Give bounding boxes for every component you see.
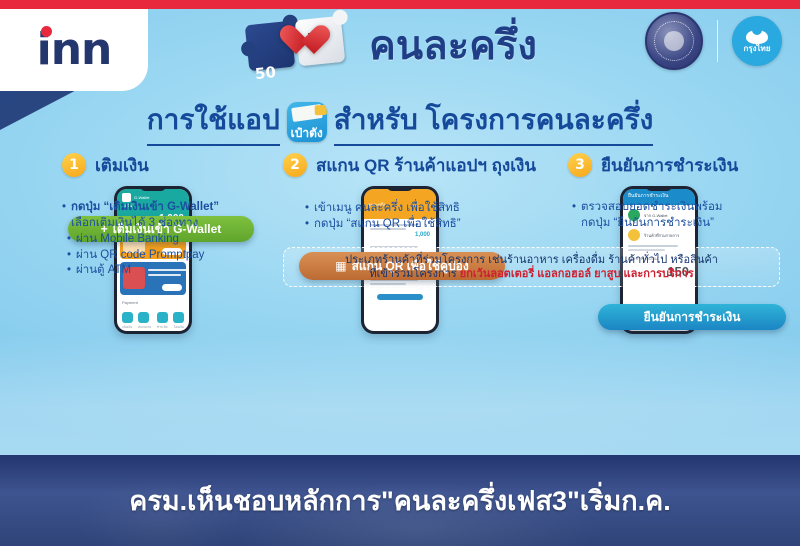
- step-3: 3 ยืนยันการชำระเงิน ยืนยันการชำระเงิน จา…: [568, 150, 800, 336]
- step-1-bullet-lead: กดปุ่ม “เติมเงินเข้า G-Wallet” เลือกเติม…: [62, 200, 297, 231]
- app-icon-label: เป๋าตัง: [291, 127, 323, 139]
- confirm-header-label: ยืนยันการชำระเงิน: [628, 193, 668, 199]
- tile-2: สแกนจ่าย: [138, 312, 151, 330]
- phone-notch: [140, 186, 166, 191]
- disclaimer-exclusions: ยกเว้นลอตเตอรี่ แอลกอฮอล์ ยาสูบ และการบร…: [460, 268, 694, 280]
- step-1-bullet-lead-text: กดปุ่ม “เติมเงินเข้า G-Wallet”: [71, 201, 219, 213]
- phone-notch: [387, 186, 413, 191]
- promo-button: [162, 284, 182, 291]
- step-2-bullet-list: เข้าเมนู คนละครึ่ง เพื่อใช้สิทธิ กดปุ่ม …: [300, 201, 565, 232]
- puzzle-heart-icon: 50 50: [245, 14, 361, 76]
- tile-4: โอนเงิน: [173, 312, 184, 330]
- confirm-payment-button[interactable]: ยืนยันการชำระเงิน: [598, 304, 786, 330]
- step-1-bullet-lead-text-2: เลือกเติมเงินได้ 3 ช่องทาง: [71, 217, 198, 229]
- step-3-bullets: ตรวจสอบยอดชำระเงินพร้อม กดปุ่ม “ยืนยันกา…: [572, 200, 800, 231]
- disclaimer-line-2-normal: ที่เข้าร่วมโครงการ: [369, 268, 459, 280]
- partner-logos: กรุงไทย: [645, 12, 782, 70]
- phone-notch: [646, 186, 672, 191]
- rights-value: 1,000: [370, 232, 430, 238]
- step-3-header: 3 ยืนยันการชำระเงิน: [568, 150, 800, 180]
- step-1-badge: 1: [62, 153, 86, 177]
- step-3-bullet-line-1: ตรวจสอบยอดชำระเงินพร้อม: [581, 201, 722, 213]
- disclaimer-line-1: ประเภทร้านค้าที่ร่วมโครงการ เช่นร้านอาหา…: [345, 253, 718, 267]
- tile-label: โอนเงิน: [173, 325, 184, 330]
- puzzle-left-number: 50: [254, 63, 277, 83]
- tile-icon: [157, 312, 168, 323]
- heart-icon: [279, 26, 313, 58]
- step-1-title: เติมเงิน: [95, 152, 149, 179]
- tile-label: เติมเงิน: [122, 325, 133, 330]
- tile-label: สแกนจ่าย: [138, 325, 151, 330]
- tile-icon: [173, 312, 184, 323]
- puzzle-knob-icon: [240, 41, 256, 57]
- payment-section-label: Payment: [117, 298, 189, 307]
- logo-divider: [717, 20, 718, 62]
- merchant-label: ร้านค้าที่ร่วมรายการ: [644, 232, 679, 239]
- list-item: ผ่านตู้ ATM: [76, 263, 297, 279]
- list-item: ผ่าน QR code Promptpay: [76, 248, 297, 264]
- tile-label: ชำระบิล: [157, 325, 168, 330]
- step-2: 2 สแกน QR ร้านค้าแอปฯ ถุงเงิน คนละครึ่ง …: [283, 150, 573, 336]
- step-3-bullet-lead: ตรวจสอบยอดชำระเงินพร้อม กดปุ่ม “ยืนยันกา…: [572, 200, 800, 231]
- ministry-of-finance-seal-icon: [645, 12, 703, 70]
- inn-logo: inn: [0, 9, 148, 91]
- puzzle-knob-icon: [332, 9, 348, 25]
- tile-3: ชำระบิล: [157, 312, 168, 330]
- subtitle-row: การใช้แอป เป๋าตัง สำหรับ โครงการคนละครึ่…: [0, 98, 800, 146]
- news-headline: ครม.เห็นชอบหลักการ"คนละครึ่งเฟส3"เริ่มก.…: [129, 479, 670, 522]
- step-2-header: 2 สแกน QR ร้านค้าแอปฯ ถุงเงิน: [283, 150, 573, 180]
- step-1-sub-bullets: ผ่าน Mobile Banking ผ่าน QR code Promptp…: [62, 232, 297, 279]
- disclaimer-line-2: ที่เข้าร่วมโครงการ ยกเว้นลอตเตอรี่ แอลกอ…: [369, 267, 693, 281]
- list-item: กดปุ่ม “สแกน QR เพื่อใช้สิทธิ”: [314, 217, 565, 233]
- ktb-label: กรุงไทย: [743, 45, 770, 53]
- ktb-mark-icon: [746, 30, 768, 44]
- top-red-bar: [0, 0, 800, 9]
- wallet-bill-icon: [291, 104, 323, 122]
- step-2-bullets: เข้าเมนู คนละครึ่ง เพื่อใช้สิทธิ กดปุ่ม …: [300, 200, 565, 232]
- tile-1: เติมเงิน: [122, 312, 133, 330]
- tile-icon: [138, 312, 149, 323]
- paotang-app-icon: เป๋าตัง: [287, 102, 327, 142]
- step-2-badge: 2: [283, 153, 307, 177]
- step-3-bullet-line-2: กดปุ่ม “ยืนยันการชำระเงิน”: [581, 217, 714, 229]
- subtitle-part-2: สำหรับ โครงการคนละครึ่ง: [334, 98, 654, 146]
- krungthai-bank-logo-icon: กรุงไทย: [732, 16, 782, 66]
- phone-2-submit-button[interactable]: [377, 294, 423, 300]
- step-2-title: สแกน QR ร้านค้าแอปฯ ถุงเงิน: [316, 152, 536, 179]
- steps-container: 1 เติมเงิน G-Wallet วงเงิน 1,000: [0, 150, 800, 450]
- news-headline-banner: ครม.เห็นชอบหลักการ"คนละครึ่งเฟส3"เริ่มก.…: [0, 455, 800, 546]
- infographic-screen: inn 50 50 คนละครึ่ง กรุงไทย: [0, 0, 800, 546]
- tile-icon: [122, 312, 133, 323]
- merchant-disclaimer: ประเภทร้านค้าที่ร่วมโครงการ เช่นร้านอาหา…: [283, 247, 780, 287]
- program-title: คนละครึ่ง: [369, 13, 537, 77]
- list-item: ผ่าน Mobile Banking: [76, 232, 297, 248]
- brand-row: 50 50 คนละครึ่ง: [245, 12, 537, 78]
- step-1-bullets: กดปุ่ม “เติมเงินเข้า G-Wallet” เลือกเติม…: [62, 200, 297, 279]
- payment-tile-grid: เติมเงิน สแกนจ่าย ชำระบิล โอนเงิน: [117, 307, 189, 331]
- logo-dot-icon: [41, 26, 52, 37]
- list-item: เข้าเมนู คนละครึ่ง เพื่อใช้สิทธิ: [314, 201, 565, 217]
- step-3-badge: 3: [568, 153, 592, 177]
- seal-core: [664, 31, 684, 51]
- inn-logo-wrap: inn: [37, 28, 112, 72]
- subtitle-part-1: การใช้แอป: [147, 98, 280, 146]
- confirm-payment-label: ยืนยันการชำระเงิน: [644, 308, 741, 327]
- step-3-title: ยืนยันการชำระเงิน: [601, 152, 738, 179]
- step-1-header: 1 เติมเงิน: [62, 150, 312, 180]
